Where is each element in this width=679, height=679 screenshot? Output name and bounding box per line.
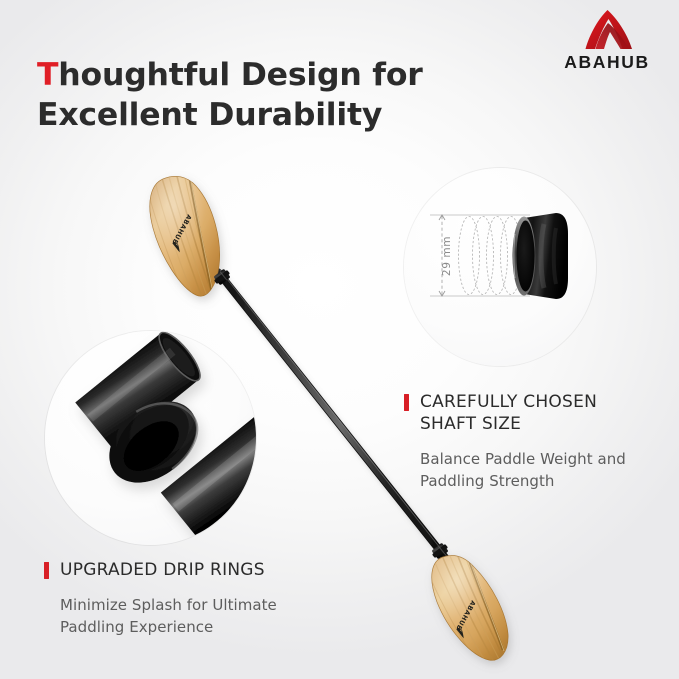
paddle-blade-bottom: ABAHUB (429, 551, 508, 666)
svg-text:ABAHUB: ABAHUB (170, 213, 193, 246)
callout-drip-rings: UPGRADED DRIP RINGS Minimize Splash for … (44, 559, 344, 639)
drip-ring-bottom (430, 542, 450, 561)
paddle-blade-top: ABAHUB (149, 172, 220, 305)
blade-bottom-grain (429, 551, 506, 666)
drip-ring-inset (45, 331, 256, 545)
callout-drip-subtitle: Minimize Splash for Ultimate Paddling Ex… (60, 595, 344, 639)
cross-section-ellipses (459, 217, 522, 295)
callout-shaft-size: CAREFULLY CHOSEN SHAFT SIZE Balance Padd… (404, 391, 666, 492)
drip-ring-top (212, 268, 232, 287)
callout-shaft-heading: CAREFULLY CHOSEN SHAFT SIZE (404, 391, 666, 436)
dimension-label: 29 mm (441, 236, 453, 276)
headline-accent-letter: T (37, 57, 58, 93)
callout-shaft-title: CAREFULLY CHOSEN SHAFT SIZE (420, 391, 597, 436)
red-bar-marker-icon (404, 394, 409, 411)
headline-line1: houghtful Design for (58, 57, 422, 93)
shaft-size-inset: 29 mm (404, 168, 596, 366)
svg-text:ABAHUB: ABAHUB (454, 599, 477, 632)
brand-logo: ABAHUB (542, 8, 672, 84)
callout-shaft-subtitle: Balance Paddle Weight and Paddling Stren… (420, 449, 666, 493)
abahub-swoosh-icon (577, 8, 637, 52)
red-bar-marker-icon (44, 562, 49, 579)
callout-drip-title: UPGRADED DRIP RINGS (60, 559, 265, 581)
headline-line2: Excellent Durability (37, 97, 382, 133)
callout-drip-heading: UPGRADED DRIP RINGS (44, 559, 344, 581)
shaft-size-diagram: 29 mm (404, 168, 596, 366)
brand-wordmark: ABAHUB (564, 54, 649, 72)
page-title: Thoughtful Design for Excellent Durabili… (37, 56, 507, 135)
drip-ring-photo (45, 331, 256, 545)
blade-top-brand-mark: ABAHUB (168, 213, 198, 252)
infographic-canvas: ABAHUB Thoughtful Design for Excellent D… (0, 0, 679, 679)
shaft-tube-photo (513, 213, 569, 299)
blade-bottom-brand-mark: ABAHUB (452, 599, 482, 638)
blade-top-grain (149, 172, 217, 305)
